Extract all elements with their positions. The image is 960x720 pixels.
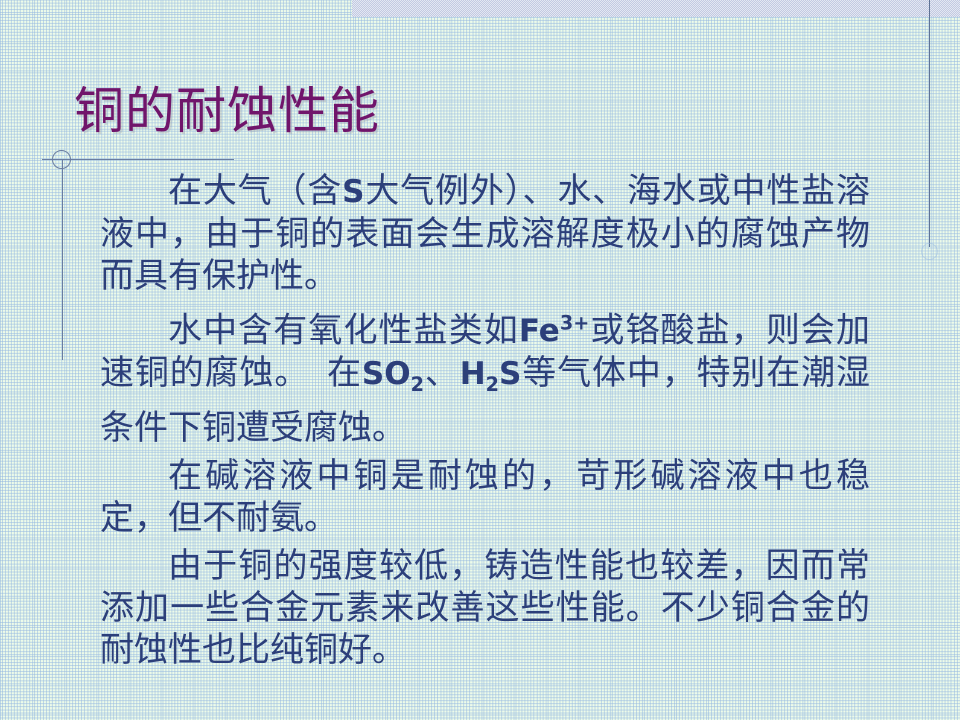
chemical-formula: H2S bbox=[460, 356, 522, 392]
chem-symbol: S bbox=[342, 174, 364, 210]
decorative-vertical-rule-right bbox=[929, 0, 930, 247]
paragraph-2: 水中含有氧化性盐类如Fe3+或铬酸盐，则会加速铜的腐蚀。在SO2、H2S等气体中… bbox=[100, 303, 870, 449]
paragraph-4: 由于铜的强度较低，铸造性能也较差，因而常添加一些合金元素来改善这些性能。不少铜合… bbox=[100, 545, 870, 671]
chemical-formula: Fe3+ bbox=[519, 313, 589, 349]
slide-title: 铜的耐蚀性能 bbox=[74, 82, 380, 140]
slide-body: 在大气（含S大气例外）、水、海水或中性盐溶液中，由于铜的表面会生成溶解度极小的腐… bbox=[100, 170, 870, 671]
paragraph-1: 在大气（含S大气例外）、水、海水或中性盐溶液中，由于铜的表面会生成溶解度极小的腐… bbox=[100, 170, 870, 297]
decorative-vertical-rule-left bbox=[62, 160, 63, 360]
decorative-circle-marker-right bbox=[921, 243, 938, 260]
chemical-formula: SO2 bbox=[362, 356, 424, 392]
paragraph-3: 在碱溶液中铜是耐蚀的，苛形碱溶液中也稳定，但不耐氨。 bbox=[100, 455, 870, 539]
top-decorative-band bbox=[352, 0, 960, 17]
slide-canvas: 铜的耐蚀性能 在大气（含S大气例外）、水、海水或中性盐溶液中，由于铜的表面会生成… bbox=[0, 0, 960, 720]
